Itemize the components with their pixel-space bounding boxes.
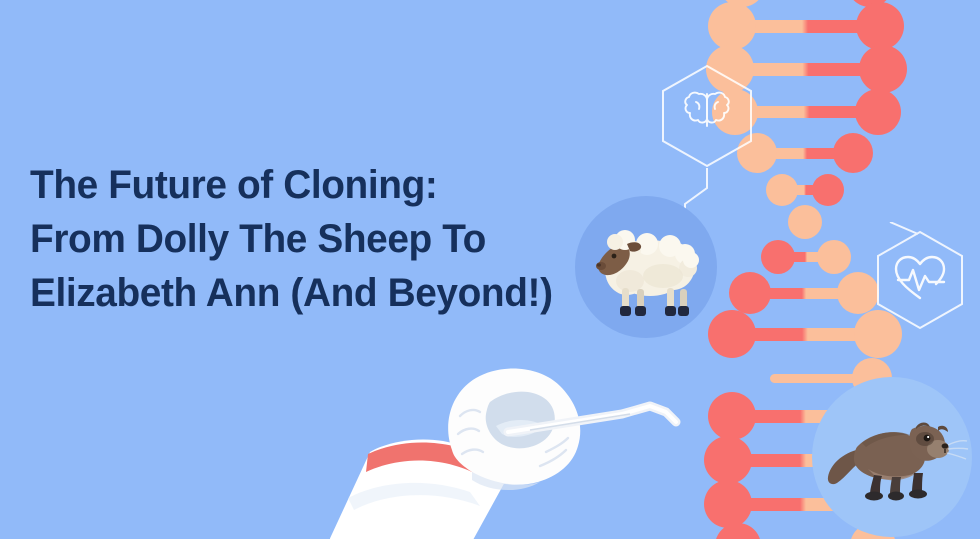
gloved-hand-with-tweezers [330, 330, 730, 539]
banner-image: The Future of Cloning: From Dolly The Sh… [0, 0, 980, 539]
sheep-illustration [575, 196, 717, 338]
title-line-2: From Dolly The Sheep To [30, 212, 573, 266]
heart-pulse-glyph [896, 257, 944, 298]
title-line-3: Elizabeth Ann (And Beyond!) [30, 266, 573, 320]
ferret-art [812, 377, 972, 537]
page-title: The Future of Cloning: From Dolly The Sh… [30, 158, 590, 320]
heart-pulse-icon [862, 222, 980, 342]
title-line-1: The Future of Cloning: [30, 158, 573, 212]
brain-glyph [685, 93, 728, 126]
sheep-art [575, 196, 717, 338]
ferret-illustration [812, 377, 972, 537]
